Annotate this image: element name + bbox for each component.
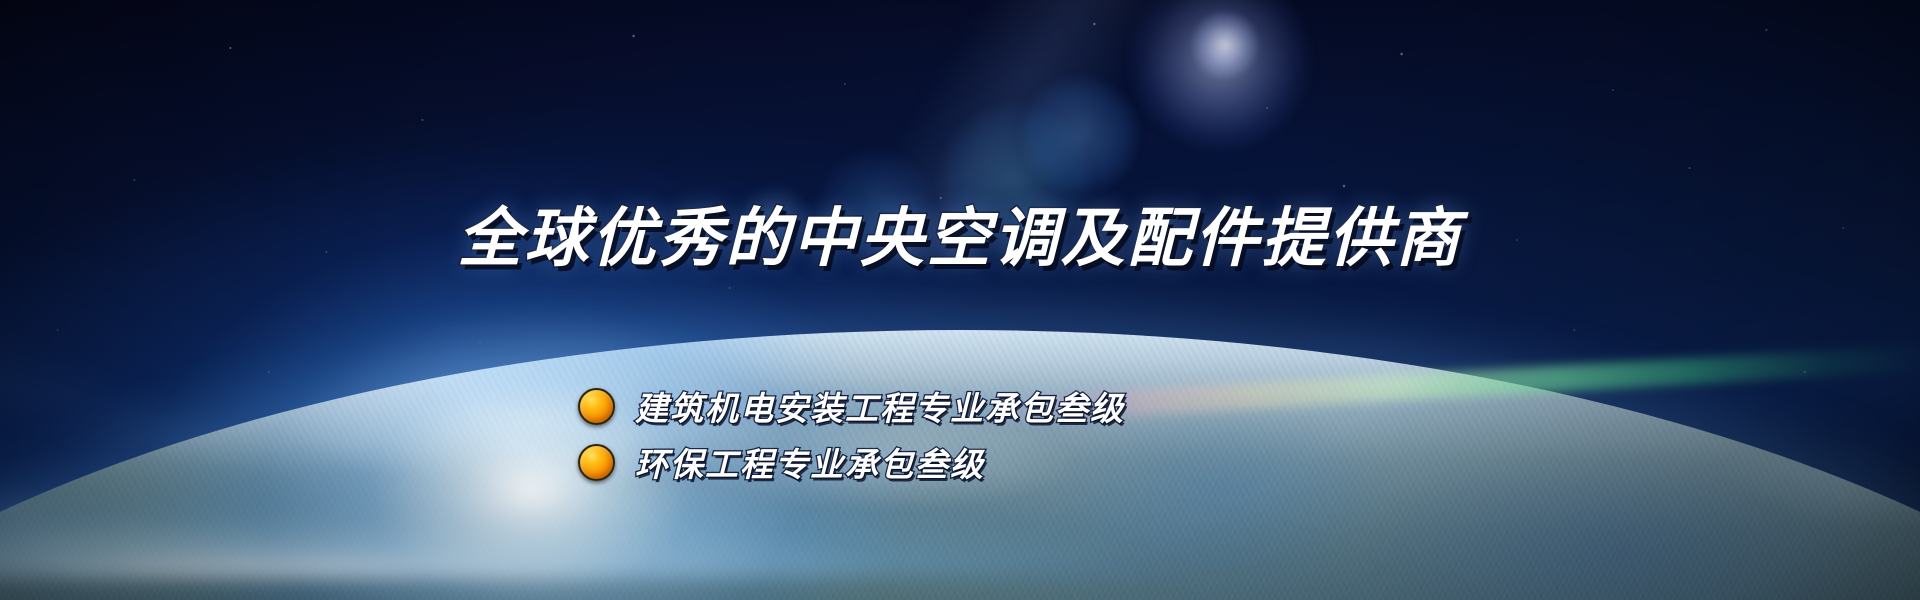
banner-content: 全球优秀的中央空调及配件提供商 建筑机电安装工程专业承包叁级 环保工程专业承包叁… — [0, 0, 1920, 600]
hero-banner: 全球优秀的中央空调及配件提供商 建筑机电安装工程专业承包叁级 环保工程专业承包叁… — [0, 0, 1920, 600]
banner-headline: 全球优秀的中央空调及配件提供商 — [0, 206, 1920, 270]
qualification-list: 建筑机电安装工程专业承包叁级 环保工程专业承包叁级 — [578, 378, 1125, 490]
qualification-label: 环保工程专业承包叁级 — [635, 438, 985, 486]
list-item: 建筑机电安装工程专业承包叁级 — [578, 378, 1125, 434]
orange-sphere-bullet-icon — [578, 444, 615, 481]
qualification-label: 建筑机电安装工程专业承包叁级 — [635, 382, 1125, 430]
orange-sphere-bullet-icon — [578, 388, 615, 425]
list-item: 环保工程专业承包叁级 — [578, 434, 1125, 490]
